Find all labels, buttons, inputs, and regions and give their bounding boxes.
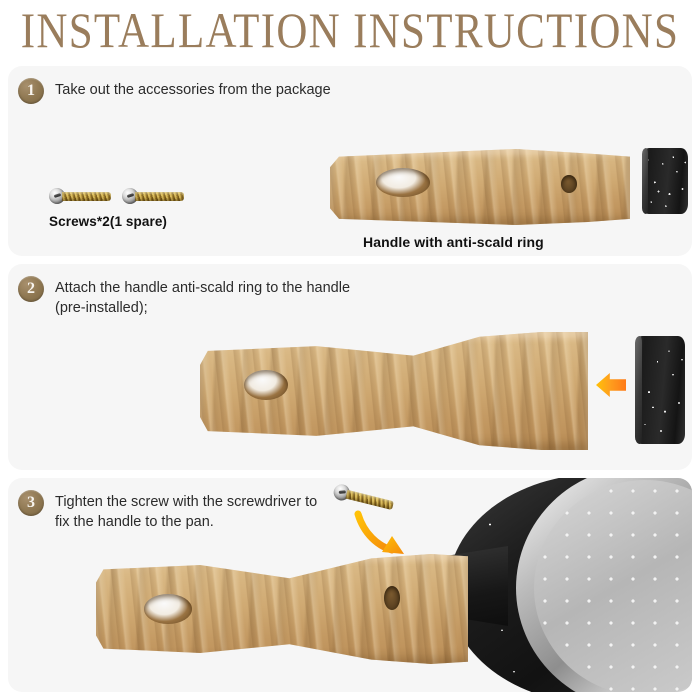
handle-icon <box>96 554 468 664</box>
handle-label: Handle with anti-scald ring <box>363 234 544 250</box>
handle-hanging-hole <box>244 370 288 400</box>
step-1-badge: 1 <box>18 78 44 104</box>
handle-screw-hole <box>384 586 400 610</box>
step-3-line-1: Tighten the screw with the screwdriver t… <box>55 494 317 510</box>
step-1-line-1: Take out the accessories from the packag… <box>55 82 331 98</box>
step-2-line-1: Attach the handle anti-scald ring to the… <box>55 280 350 296</box>
screw-slot <box>339 490 346 493</box>
step-card-3: 3 Tighten the screw with the screwdriver… <box>8 478 692 692</box>
step-2-heading: 2 Attach the handle anti-scald ring to t… <box>18 276 350 318</box>
handle-icon <box>200 332 588 450</box>
screw-shaft <box>345 489 394 509</box>
ring-inner-edge <box>642 148 648 214</box>
handle-screw-hole <box>561 175 577 193</box>
step-1-text: Take out the accessories from the packag… <box>55 78 331 100</box>
step-card-1: 1 Take out the accessories from the pack… <box>8 66 692 256</box>
anti-scald-ring-icon <box>635 336 685 444</box>
step-2-text: Attach the handle anti-scald ring to the… <box>55 276 350 318</box>
ring-band <box>642 148 688 214</box>
handle-icon <box>330 149 630 225</box>
step-3-line-2: fix the handle to the pan. <box>55 512 317 532</box>
ring-inner-edge <box>635 336 642 444</box>
step-1-heading: 1 Take out the accessories from the pack… <box>18 78 331 104</box>
arrow-left-icon <box>596 372 626 398</box>
screw-icon <box>49 188 111 204</box>
ring-band <box>635 336 685 444</box>
screw-icon <box>122 188 184 204</box>
step-card-2: 2 Attach the handle anti-scald ring to t… <box>8 264 692 470</box>
step-3-heading: 3 Tighten the screw with the screwdriver… <box>18 490 317 532</box>
screw-shaft <box>135 192 184 201</box>
step-2-line-2: (pre-installed); <box>55 298 350 318</box>
anti-scald-ring-icon <box>642 148 688 214</box>
handle-wood <box>330 149 630 225</box>
arrow-left-glyph <box>596 372 626 398</box>
screw-shaft <box>62 192 111 201</box>
frying-pan-icon <box>438 478 692 692</box>
page-title: INSTALLATION INSTRUCTIONS <box>21 6 680 56</box>
handle-hanging-hole <box>144 594 192 624</box>
arrow-curved-icon <box>352 508 422 568</box>
page-header: INSTALLATION INSTRUCTIONS <box>0 0 700 62</box>
step-2-badge: 2 <box>18 276 44 302</box>
step-3-badge: 3 <box>18 490 44 516</box>
handle-hanging-hole <box>376 168 430 197</box>
screws-label: Screws*2(1 spare) <box>49 214 167 229</box>
installation-instructions-page: INSTALLATION INSTRUCTIONS 1 Take out the… <box>0 0 700 700</box>
step-3-text: Tighten the screw with the screwdriver t… <box>55 490 317 532</box>
